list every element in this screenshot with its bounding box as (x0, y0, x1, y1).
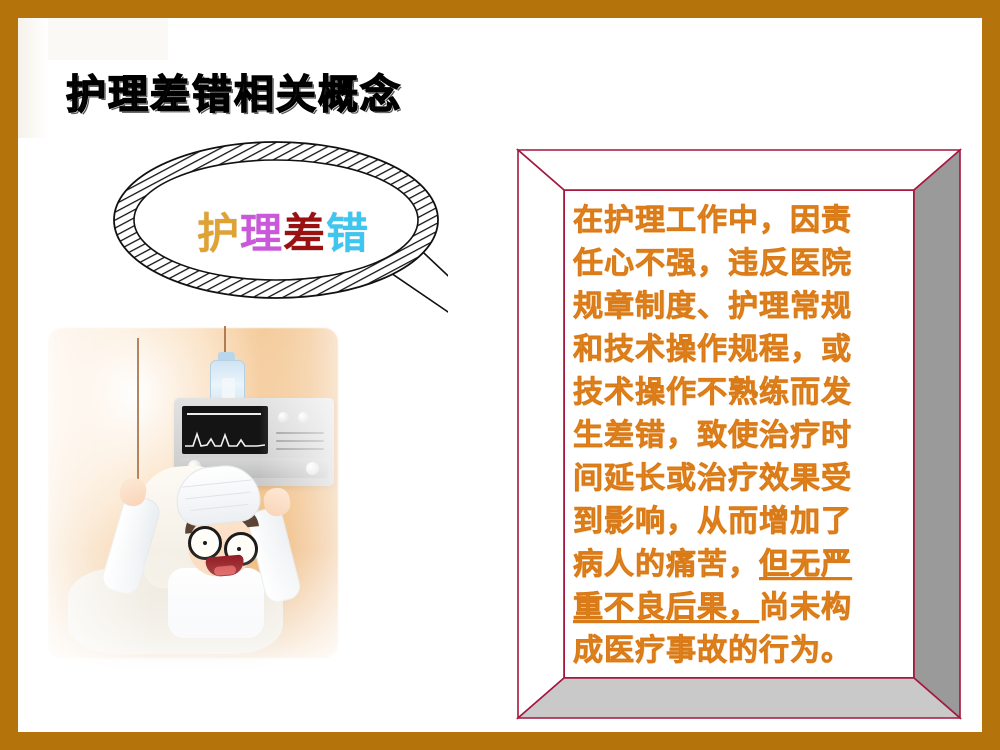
nursing-error-bubble: 护理差错 (108, 128, 448, 318)
definition-text: 在护理工作中，因责 任心不强，违反医院 规章制度、护理常规 和技术操作规程，或 … (573, 199, 907, 672)
illustration-fade-overlay (28, 318, 358, 732)
bubble-char-4: 错 (326, 209, 369, 258)
bubble-char-2: 理 (240, 209, 283, 258)
nursing-error-definition: 在护理工作中，因责 任心不强，违反医院 规章制度、护理常规 和技术操作规程，或 … (500, 128, 978, 732)
definition-line-2: 任心不强，违反医院 (573, 242, 907, 285)
bubble-text: 护理差错 (168, 200, 398, 261)
bandaged-patient-illustration (28, 318, 348, 732)
definition-line-4: 和技术操作规程，或 (573, 328, 907, 371)
definition-line-10-plain: 尚未构 (759, 590, 852, 625)
slide-page: 护理差错相关概念 (18, 18, 982, 732)
definition-line-9-plain: 病人的痛苦， (573, 547, 759, 582)
definition-line-10-underlined: 重不良后果， (573, 590, 759, 625)
definition-line-7: 间延长或治疗效果受 (573, 457, 907, 500)
definition-line-9: 病人的痛苦，但无严 (573, 543, 907, 586)
definition-line-10: 重不良后果，尚未构 (573, 586, 907, 629)
definition-line-1: 在护理工作中，因责 (573, 199, 907, 242)
title-accent-band-2 (48, 18, 168, 60)
definition-line-9-underlined: 但无严 (759, 547, 852, 582)
bubble-char-1: 护 (197, 209, 240, 258)
definition-line-6: 生差错，致使治疗时 (573, 414, 907, 457)
page-title: 护理差错相关概念 (66, 62, 402, 120)
definition-line-3: 规章制度、护理常规 (573, 285, 907, 328)
slide-root: 护理差错相关概念 (0, 0, 1000, 750)
definition-line-8: 到影响，从而增加了 (573, 500, 907, 543)
definition-text-panel: 在护理工作中，因责 任心不强，违反医院 规章制度、护理常规 和技术操作规程，或 … (564, 190, 914, 678)
title-accent-band (18, 18, 48, 138)
definition-line-5: 技术操作不熟练而发 (573, 371, 907, 414)
bubble-char-3: 差 (283, 209, 326, 258)
definition-line-11: 成医疗事故的行为。 (573, 629, 907, 672)
